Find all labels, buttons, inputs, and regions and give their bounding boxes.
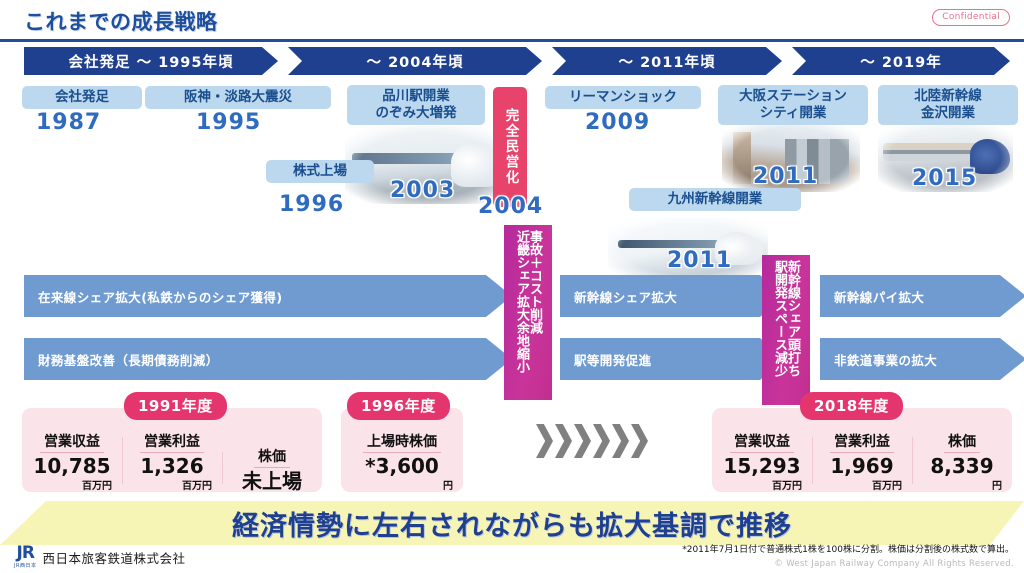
kpi-col-eigyou-rieki-2018: 営業利益 1,969 百万円 [812,431,912,492]
slide-root: これまでの成長戦略 Confidential 会社発足 ～ 1995年頃 ～ 2… [0,0,1024,573]
kpi-columns-1996: 上場時株価 *3,600 円 [341,408,463,498]
timeline-segment-2[interactable]: ～ 2004年頃 [288,47,542,75]
chevron-icon [574,424,591,458]
event-pill-osaka-station-city[interactable]: 大阪ステーション シティ開業 [718,85,868,125]
strategy-arrow-hitetsudou[interactable]: 非鉄道事業の拡大 [820,338,1024,380]
timeline-bar: 会社発足 ～ 1995年頃 ～ 2004年頃 ～ 2011年頃 ～ 2019年 [0,47,1024,75]
kpi-head: 営業利益 [140,431,204,453]
kpi-unit: 円 [912,477,1012,492]
kpi-col-eigyou-rieki-1991: 営業利益 1,326 百万円 [122,431,222,492]
chevron-icon [555,424,572,458]
event-year-2004: 2004 [478,194,543,219]
progress-chevrons [536,424,648,458]
event-pill-lehman-shock[interactable]: リーマンショック [545,86,701,109]
event-year-2009: 2009 [585,110,650,135]
kpi-col-kabuka-1991: 株価 未上場 [222,446,322,492]
event-pill-kaisha-hossoku[interactable]: 会社発足 [22,86,142,109]
event-pill-shinagawa-line2: のぞみ大増発 [355,105,477,122]
kpi-head: 営業利益 [830,431,894,453]
strategy-arrow-shinkansen-share[interactable]: 新幹線シェア拡大 [560,275,786,317]
kpi-head: 株価 [944,431,980,453]
kpi-unit: 百万円 [122,477,222,492]
kpi-value: 10,785 [22,456,122,476]
event-pill-hanshin-awaji[interactable]: 阪神・淡路大震災 [145,86,331,109]
kpi-head: 営業収益 [40,431,104,453]
summary-banner-text: 経済情勢に左右されながらも拡大基調で推移 [0,501,1024,545]
confidential-badge: Confidential [932,9,1010,26]
kpi-card-2018: 営業収益 15,293 百万円 営業利益 1,969 百万円 株価 8,339 … [712,408,1012,492]
event-pill-hokuriku-kanazawa[interactable]: 北陸新幹線 金沢開業 [878,85,1018,125]
callout-left-line1: 事故＋コスト削減 [528,230,541,395]
kpi-badge-2018: 2018年度 [800,392,903,420]
chevron-icon [536,424,553,458]
footnote-block: *2011年7月1日付で普通株式1株を100株に分割。株価は分割後の株式数で算出… [682,544,1014,570]
timeline-segment-4[interactable]: ～ 2019年 [792,47,1010,75]
kpi-head: 営業収益 [730,431,794,453]
jr-logo-sub: JR西日本 [14,562,36,569]
header-divider [0,39,1024,42]
company-name: 西日本旅客鉄道株式会社 [42,548,185,567]
event-year-2011-osaka: 2011 [753,164,818,189]
kpi-head: 上場時株価 [363,431,441,453]
kpi-value: 1,969 [812,456,912,476]
event-pill-osaka-line2: シティ開業 [726,105,860,122]
event-pill-kanzen-mineika[interactable]: 完全民営化 [493,87,527,207]
event-pill-kyushu-shinkansen[interactable]: 九州新幹線開業 [629,188,801,211]
strategy-arrow-zaimu-kiban[interactable]: 財務基盤改善（長期債務削減） [24,338,512,380]
event-pill-hokuriku-line1: 北陸新幹線 [886,88,1010,105]
timeline-segment-3[interactable]: ～ 2011年頃 [552,47,782,75]
callout-box-right[interactable]: 新幹線シェア頭打ち 駅開発スペース減少 [762,255,810,405]
kpi-columns-2018: 営業収益 15,293 百万円 営業利益 1,969 百万円 株価 8,339 … [712,408,1012,498]
event-year-1987: 1987 [36,110,101,135]
copyright-text: © West Japan Railway Company All Rights … [682,558,1014,571]
kpi-unit: 百万円 [22,477,122,492]
kpi-unit: 百万円 [712,477,812,492]
kpi-badge-1996: 1996年度 [347,392,450,420]
kpi-card-1996: 上場時株価 *3,600 円 [341,408,463,492]
callout-box-left[interactable]: 事故＋コスト削減 近畿シェア拡大余地縮小 [504,225,552,400]
event-year-2011-kyushu: 2011 [667,248,732,273]
event-year-1995: 1995 [196,110,261,135]
event-pill-kabushiki-joujou[interactable]: 株式上場 [266,160,374,183]
kpi-value: 未上場 [222,471,322,491]
callout-right-line1: 新幹線シェア頭打ち [786,260,799,400]
timeline-segment-1[interactable]: 会社発足 ～ 1995年頃 [24,47,278,75]
strategy-arrow-shinkansen-pai[interactable]: 新幹線パイ拡大 [820,275,1024,317]
kpi-col-eigyou-shuueki-1991: 営業収益 10,785 百万円 [22,431,122,492]
kpi-col-eigyou-shuueki-2018: 営業収益 15,293 百万円 [712,431,812,492]
event-year-2015: 2015 [912,166,977,191]
jr-logo-mark: JR [17,545,34,562]
kpi-value: *3,600 [341,456,463,476]
page-title: これまでの成長戦略 [24,6,218,36]
kpi-col-kabuka-2018: 株価 8,339 円 [912,431,1012,492]
strategy-arrow-zairaisen-share[interactable]: 在来線シェア拡大(私鉄からのシェア獲得) [24,275,512,317]
jr-logo: JR JR西日本 西日本旅客鉄道株式会社 [14,545,185,569]
kpi-columns-1991: 営業収益 10,785 百万円 営業利益 1,326 百万円 株価 未上場 [22,408,322,498]
footnote-text: *2011年7月1日付で普通株式1株を100株に分割。株価は分割後の株式数で算出… [682,544,1014,558]
kpi-value: 15,293 [712,456,812,476]
chevron-icon [612,424,629,458]
strategy-arrow-eki-kaihatsu[interactable]: 駅等開発促進 [560,338,786,380]
kpi-col-joujouji-kabuka-1996: 上場時株価 *3,600 円 [341,431,463,492]
event-year-1996: 1996 [279,192,344,217]
kpi-badge-1991: 1991年度 [124,392,227,420]
event-pill-shinagawa[interactable]: 品川駅開業 のぞみ大増発 [347,85,485,125]
event-pill-hokuriku-line2: 金沢開業 [886,105,1010,122]
kpi-unit: 百万円 [812,477,912,492]
kpi-value: 1,326 [122,456,222,476]
event-pill-osaka-line1: 大阪ステーション [726,88,860,105]
kpi-head: 株価 [254,446,290,468]
chevron-icon [631,424,648,458]
kpi-card-1991: 営業収益 10,785 百万円 営業利益 1,326 百万円 株価 未上場 [22,408,322,492]
kpi-value: 8,339 [912,456,1012,476]
kpi-unit: 円 [341,477,463,492]
event-pill-shinagawa-line1: 品川駅開業 [355,88,477,105]
chevron-icon [593,424,610,458]
event-year-2003: 2003 [390,178,455,203]
